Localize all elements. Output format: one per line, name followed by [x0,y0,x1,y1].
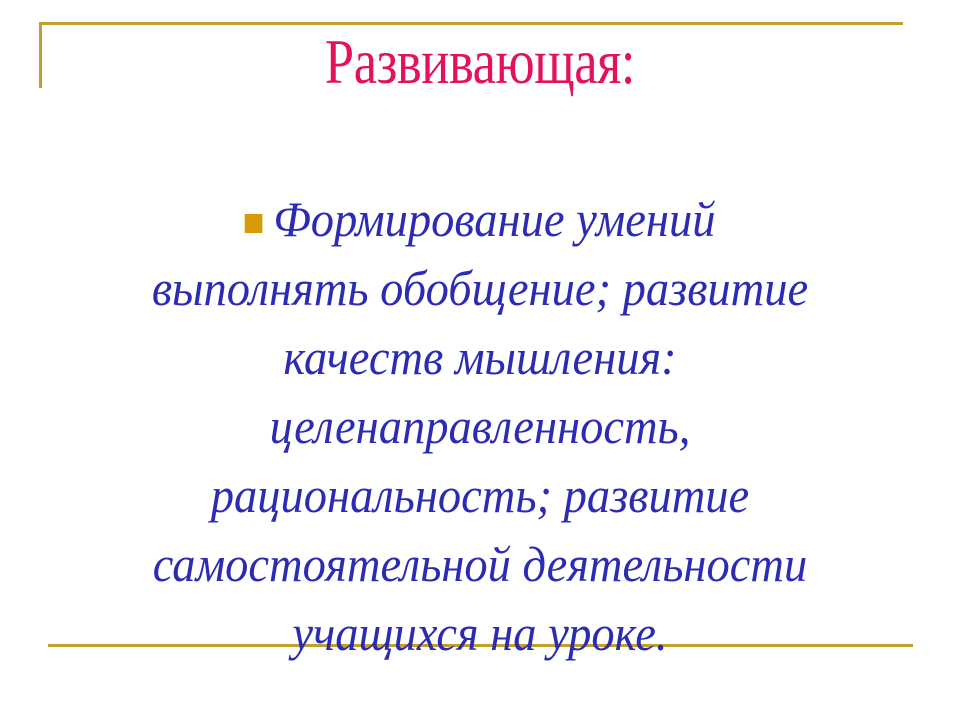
body-line: целенаправленность, [71,392,889,461]
body-line: учащихся на уроке. [71,599,889,668]
body-line: самостоятельной деятельности [71,530,889,599]
body-line: выполнять обобщение; развитие [71,254,889,323]
left-gold-corner-rule [39,22,42,88]
body-line: рациональность; развитие [71,461,889,530]
body-line: качеств мышления: [71,323,889,392]
slide-title: Развивающая: [86,28,873,95]
square-bullet-icon [245,214,263,233]
slide-body-text: Формирование умений выполнять обобщение;… [40,185,920,668]
body-line: Формирование умений [71,185,889,254]
body-line-text: Формирование умений [273,191,715,247]
top-gold-rule [39,22,903,25]
slide-canvas: Развивающая: Формирование умений выполня… [0,0,960,720]
